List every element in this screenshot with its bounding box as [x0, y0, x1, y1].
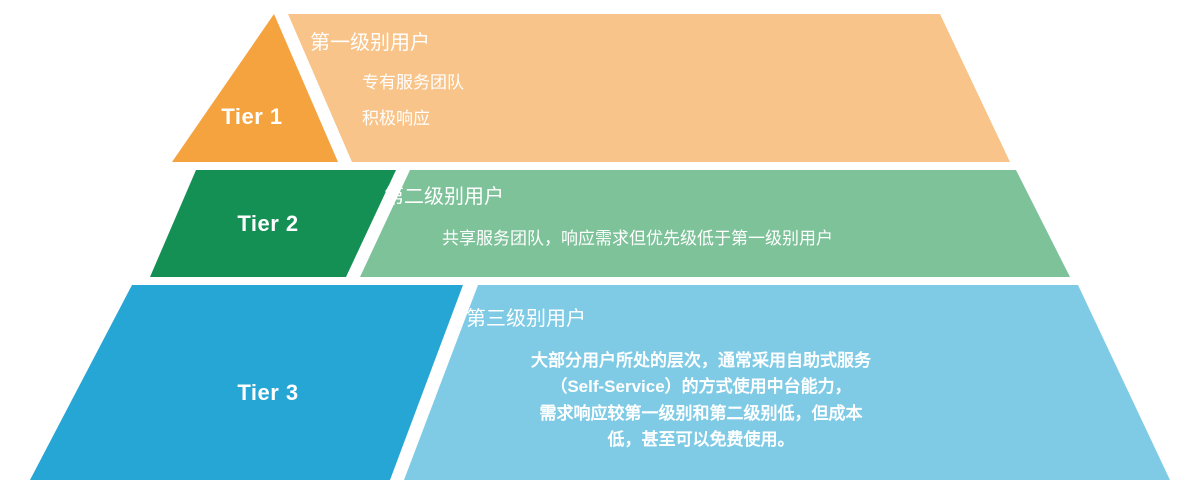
tier-2-shape[interactable] — [150, 170, 1070, 277]
tier-3-dark-trapezoid — [30, 285, 463, 480]
tier-3-shape[interactable] — [30, 285, 1170, 480]
tier-1-light-panel — [288, 14, 1010, 162]
tier-3-light-panel — [404, 285, 1170, 480]
tier-2-light-panel — [360, 170, 1070, 277]
pyramid-shapes — [0, 0, 1188, 494]
tier-1-shape[interactable] — [172, 14, 1010, 162]
tier-2-dark-trapezoid — [150, 170, 396, 277]
pyramid-diagram: Tier 1 第一级别用户 专有服务团队 积极响应 Tier 2 第二级别用户 … — [0, 0, 1188, 494]
